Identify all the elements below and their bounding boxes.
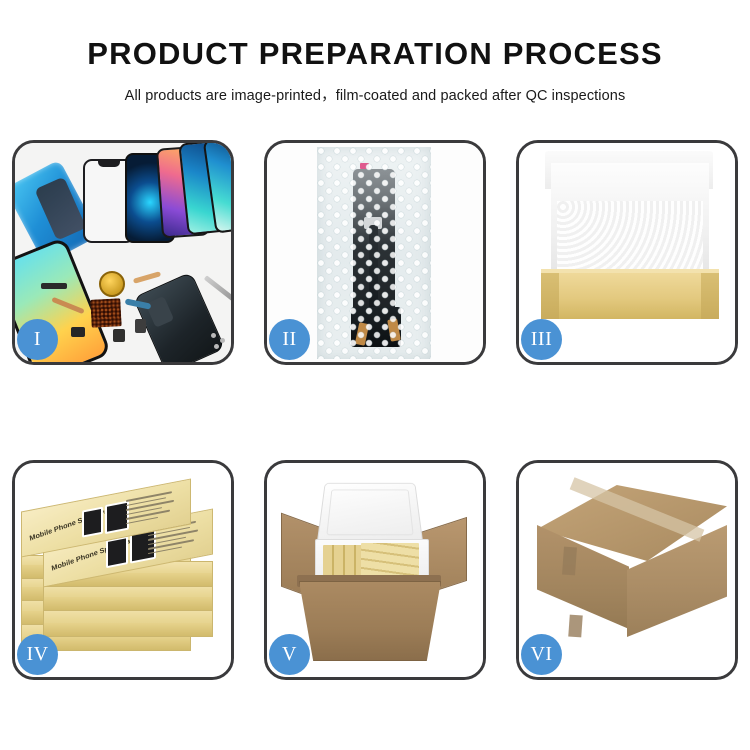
stacked-box-2a bbox=[43, 583, 213, 611]
step-panel-1: I bbox=[12, 140, 234, 365]
tray-right-rim-graphic bbox=[701, 273, 719, 319]
step-panel-6: VI bbox=[516, 460, 738, 680]
stacked-box-2b bbox=[43, 607, 213, 637]
copper-mesh-graphic bbox=[90, 298, 121, 328]
step-panel-2: II bbox=[264, 140, 486, 365]
foam-lid-graphic bbox=[317, 483, 424, 544]
tray-left-rim-graphic bbox=[541, 273, 559, 319]
chip-graphic-1 bbox=[71, 327, 85, 337]
screws-graphic bbox=[211, 333, 231, 349]
packing-tape-front-graphic bbox=[562, 547, 577, 576]
step-badge-5: V bbox=[269, 634, 310, 675]
header: PRODUCT PREPARATION PROCESS All products… bbox=[0, 0, 750, 105]
carton-body-graphic bbox=[299, 581, 441, 661]
step-badge-3: III bbox=[521, 319, 562, 360]
tweezers-graphic bbox=[204, 275, 231, 304]
chip-graphic-2 bbox=[113, 329, 125, 342]
page-title: PRODUCT PREPARATION PROCESS bbox=[0, 0, 750, 72]
earpiece-mesh-graphic bbox=[41, 283, 67, 289]
step-panel-4: Mobile Phone Spare Parts Mobile Phone Sp… bbox=[12, 460, 234, 680]
step-badge-2: II bbox=[269, 319, 310, 360]
step-panel-3: III bbox=[516, 140, 738, 365]
product-preparation-infographic: PRODUCT PREPARATION PROCESS All products… bbox=[0, 0, 750, 750]
bubble-wrap-bag-graphic bbox=[317, 147, 431, 359]
step-badge-4: IV bbox=[17, 634, 58, 675]
step-panel-5: V bbox=[264, 460, 486, 680]
step-badge-6: VI bbox=[521, 634, 562, 675]
steps-grid: I II bbox=[12, 140, 738, 685]
box-spec-lines-back bbox=[126, 490, 180, 530]
taptic-motor-graphic bbox=[99, 271, 125, 297]
step-badge-1: I bbox=[17, 319, 58, 360]
box-screen-art-1 bbox=[106, 536, 128, 568]
chip-graphic-3 bbox=[135, 319, 146, 333]
bubble-texture-overlay bbox=[317, 147, 431, 359]
foam-wrap-graphic bbox=[557, 201, 703, 279]
box-screen-art-3 bbox=[82, 507, 103, 538]
page-subtitle: All products are image-printed，film-coat… bbox=[0, 72, 750, 105]
packing-tape-lower-graphic bbox=[568, 615, 583, 638]
yellow-tray-graphic bbox=[541, 273, 719, 319]
flex-cable-graphic-b bbox=[133, 271, 161, 284]
